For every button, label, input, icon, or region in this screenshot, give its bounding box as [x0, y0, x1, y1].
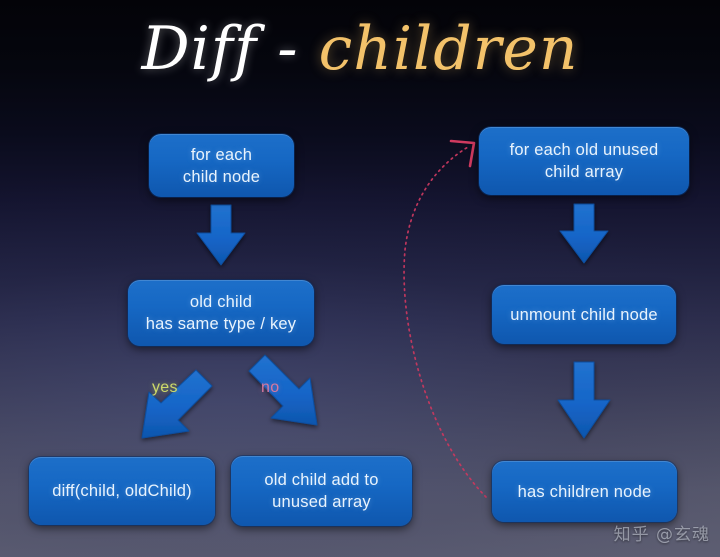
node-old-child-add-to-unused[interactable]: old child add to unused array: [231, 456, 412, 526]
page-title: Diff - children: [0, 14, 720, 84]
node-for-each-child-node[interactable]: for each child node: [149, 134, 294, 197]
arrow-down-2: [560, 204, 608, 263]
node-old-child-has-same-type[interactable]: old child has same type / key: [128, 280, 314, 346]
arrow-down-3: [558, 362, 610, 438]
slide-canvas: Diff - children: [0, 0, 720, 557]
node-has-children-node[interactable]: has children node: [492, 461, 677, 522]
page-title-white-part: Diff -: [141, 14, 318, 84]
arrow-down-1: [197, 205, 245, 265]
page-title-gold-part: children: [319, 14, 579, 84]
node-for-each-old-unused-child-array[interactable]: for each old unused child array: [479, 127, 689, 195]
node-diff-child-oldchild[interactable]: diff(child, oldChild): [29, 457, 215, 525]
arrow-no: [249, 355, 317, 425]
branch-label-yes: yes: [152, 379, 178, 397]
zhihu-watermark: 知乎 @玄魂: [614, 525, 710, 545]
arrow-dotted-loop: [404, 141, 486, 497]
branch-label-no: no: [261, 379, 279, 397]
node-unmount-child-node[interactable]: unmount child node: [492, 285, 676, 344]
